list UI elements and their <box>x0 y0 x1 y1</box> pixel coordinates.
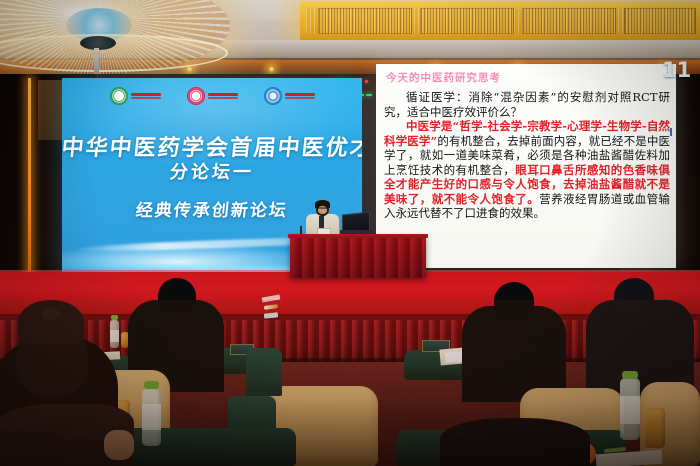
logo-text-block <box>208 93 238 99</box>
bottle-label <box>110 330 119 342</box>
foreground-person-hand <box>104 430 134 460</box>
bottle-cap <box>111 315 118 320</box>
slide-paragraph-2: 中医学是“哲学-社会学-宗教学-心理学-生物学-自然科学医学”的有机整合，去掉前… <box>384 119 670 221</box>
ceiling-grille-panel <box>318 8 412 34</box>
logo-text-line-cn <box>131 93 161 96</box>
bottle-label <box>620 396 640 424</box>
slide-title: 今天的中医药研究思考 <box>386 70 501 85</box>
led-indicator <box>365 80 368 83</box>
bottle-label <box>142 404 161 430</box>
hospital-logo-icon <box>264 87 282 105</box>
foreground-person-woman-head <box>18 300 84 344</box>
logo-text-line-en <box>208 97 238 99</box>
slide-paragraph-1: 循证医学：消除“混杂因素”的安慰剂对照RCT研究，适合中医疗效评价么？ <box>384 90 670 119</box>
slide-run-plain: 循证医学：消除“混杂因素”的安慰剂对照RCT研究，适合中医疗效评价么？ <box>384 90 670 119</box>
chair-back-cover <box>246 348 282 396</box>
audience-person-back-left-head <box>158 278 196 314</box>
led-indicator-bar <box>366 94 372 96</box>
logo-tianjin-university-of-tcm <box>187 87 238 105</box>
sponsor-logos <box>92 84 332 108</box>
hair-bun <box>42 308 60 320</box>
logo-talent-exchange-center <box>264 87 315 105</box>
foreground-person-center-shoulder <box>440 418 590 466</box>
bottle-cap <box>144 381 159 389</box>
bottle-cap <box>622 371 638 379</box>
logo-text-block <box>131 93 161 99</box>
speaker-glasses-icon <box>318 207 327 209</box>
logo-text-line-en <box>131 97 161 99</box>
logo-text-line-cn <box>285 93 315 96</box>
logo-china-association-of-chinese-medicine <box>110 87 161 105</box>
ceiling-grille-panel <box>522 8 616 34</box>
logo-text-line-cn <box>208 93 238 96</box>
downlight-icon <box>268 66 275 72</box>
slide-page-number: 11 <box>662 58 700 88</box>
banner-title-line2: 分论坛一 <box>62 158 362 184</box>
logo-text-line-en <box>285 97 315 99</box>
audience-person-center-right-head <box>494 282 534 320</box>
head-table-pleats <box>290 238 426 278</box>
ceiling-grille-panel <box>624 8 696 34</box>
tutcm-logo-icon <box>187 87 205 105</box>
beverage-can <box>645 408 665 448</box>
ceiling-grille-panel <box>420 8 514 34</box>
slide-text-cursor <box>670 128 672 136</box>
slide-body-text: 循证医学：消除“混杂因素”的安慰剂对照RCT研究，适合中医疗效评价么？ 中医学是… <box>384 90 670 221</box>
caocm-logo-icon <box>110 87 128 105</box>
logo-text-block <box>285 93 315 99</box>
conference-hall-photo: 中华中医药学会首届中医优才论坛 分论坛一 经典传承创新论坛 今天的中医药研究思考… <box>0 0 700 466</box>
audience-person-far-right-head <box>614 278 654 314</box>
nameplate-text <box>423 341 449 347</box>
